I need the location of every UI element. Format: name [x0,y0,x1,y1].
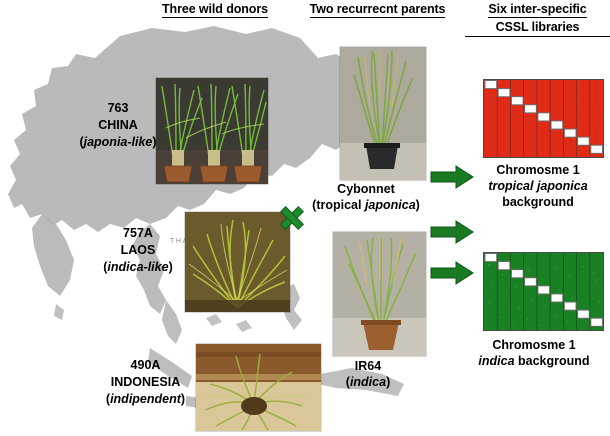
caption-background-ind: indica background [458,353,610,369]
donor-country-490a: INDONESIA [78,374,213,391]
cybonnet-plant-photo [340,47,426,180]
caption-tropical-japonica-library: Chromosme 1 tropical japonica background [466,162,610,210]
ir64-plant-photo [333,232,426,356]
cssl-staircase-indica [484,253,603,330]
parent-name-cybonnet: Cybonnet [296,181,436,197]
parent-subtype-cybonnet: (tropical japonica) [296,197,436,213]
header-parents-label: Two recurrecnt parents [310,2,446,18]
parent-name-ir64: IR64 [318,358,418,374]
header-cssl-label-line1: Six inter-specific [488,2,586,18]
caption-background-rest-tj: background [466,194,610,210]
donor-accession-490a: 490A [78,357,213,374]
donor-type-490a: (indipendent) [78,391,213,408]
rice-plants-490a-photo [196,344,321,431]
cssl-library-indica [483,252,604,331]
figure-canvas: Three wild donors Two recurrecnt parents… [0,0,610,431]
caption-chromosome-ind: Chromosme 1 [458,337,610,353]
cross-symbol [278,204,306,232]
cssl-staircase-tropical-japonica [484,80,603,157]
donor-label-490a: 490A INDONESIA (indipendent) [78,357,213,408]
header-two-recurrent-parents: Two recurrecnt parents [295,2,460,17]
rice-plants-757a-photo [185,212,290,312]
parent-label-ir64: IR64 (indica) [318,358,418,390]
parent-subtype-ir64: (indica) [318,374,418,390]
header-donors-label: Three wild donors [162,2,268,18]
donor-accession-757a: 757A [82,225,194,242]
arrow-right-icon-3 [430,260,474,286]
donor-label-763: 763 CHINA (japonia-like) [62,100,174,151]
donor-type-763: (japonia-like) [62,134,174,151]
header-six-inter-specific-cssl-libraries: Six inter-specific CSSL libraries [465,2,610,37]
caption-indica-library: Chromosme 1 indica background [458,337,610,369]
caption-background-italic-tj: tropical japonica [466,178,610,194]
donor-country-763: CHINA [62,117,174,134]
header-cssl-label-line2: CSSL libraries [465,20,610,37]
donor-type-757a: (indica-like) [82,259,194,276]
donor-country-757a: LAOS [82,242,194,259]
donor-accession-763: 763 [62,100,174,117]
header-three-wild-donors: Three wild donors [140,2,290,17]
cssl-library-tropical-japonica [483,79,604,158]
donor-label-757a: 757A LAOS (indica-like) [82,225,194,276]
parent-label-cybonnet: Cybonnet (tropical japonica) [296,181,436,213]
caption-chromosome-tj: Chromosme 1 [466,162,610,178]
arrow-right-icon-2 [430,219,474,245]
